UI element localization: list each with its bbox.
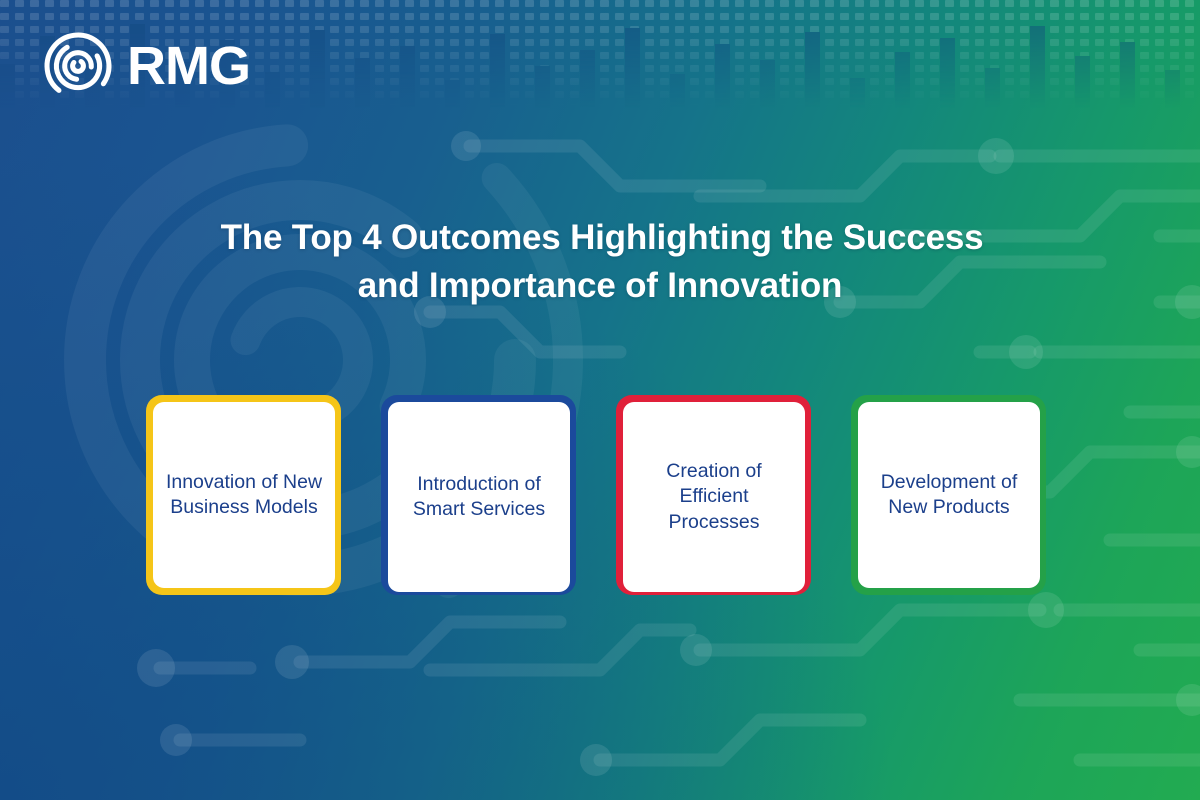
outcome-card-4[interactable]: Development of New Products [851,395,1046,595]
outcome-card-1[interactable]: Innovation of New Business Models [146,395,341,595]
brand-logo: RMG [42,30,250,102]
outcome-card-3-label: Creation of Efficient Processes [632,459,796,535]
page-title: The Top 4 Outcomes Highlighting the Succ… [0,214,1200,309]
page-title-line-2: and Importance of Innovation [0,262,1200,310]
outcome-card-row: Innovation of New Business Models Introd… [146,395,1066,600]
page-title-line-1: The Top 4 Outcomes Highlighting the Succ… [0,214,1200,262]
infographic-canvas: RMG The Top 4 Outcomes Highlighting the … [0,0,1200,800]
rmg-spiral-logo-icon [42,30,114,102]
outcome-card-2[interactable]: Introduction of Smart Services [381,395,576,595]
outcome-card-2-label: Introduction of Smart Services [397,472,561,523]
outcome-card-1-panel: Innovation of New Business Models [153,402,335,588]
outcome-card-4-panel: Development of New Products [858,402,1040,588]
outcome-card-3-panel: Creation of Efficient Processes [623,402,805,592]
outcome-card-3[interactable]: Creation of Efficient Processes [616,395,811,595]
outcome-card-2-panel: Introduction of Smart Services [388,402,570,592]
outcome-card-4-label: Development of New Products [867,470,1031,521]
outcome-card-1-label: Innovation of New Business Models [162,470,326,521]
brand-wordmark: RMG [127,39,250,93]
